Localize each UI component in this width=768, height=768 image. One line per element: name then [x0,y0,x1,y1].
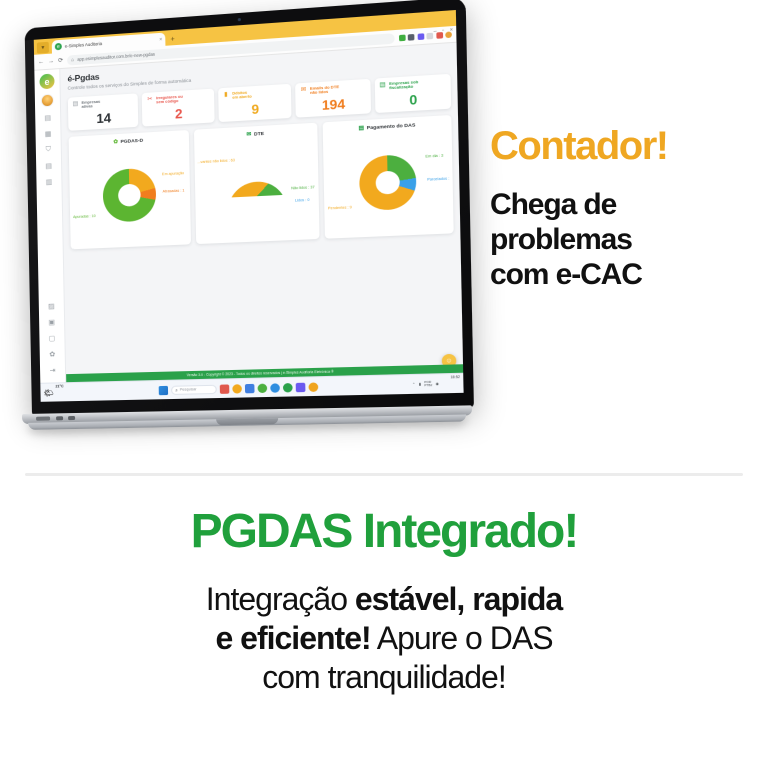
e-simples-logo-icon[interactable]: e [39,73,54,89]
forward-icon[interactable]: → [48,58,54,64]
gauge-wrap [227,181,287,213]
taskbar-app-2[interactable] [232,384,242,393]
taskbar-app-3[interactable] [245,383,255,392]
kpi-label: Emails do DTE não lidos [310,84,339,96]
file-doc-icon: ▤ [358,125,364,132]
kpi-card-empresas-ativas[interactable]: ▤ Empresas ativas 14 [68,93,139,131]
mail-icon: ✉ [246,132,251,138]
top-headline-block: Contador! Chega de problemas com e-CAC [490,126,754,292]
chart-annotation-nao-lidos: Não lidos : 37 [291,186,315,191]
bottom-body: Integração estável, rapida e eficiente! … [36,580,732,697]
chart-title: PGDAS-D [121,138,144,144]
bottom-body-line1-normal: Integração [206,581,355,617]
chart-annotation-relevantes-nao-lidos: ...vantes não lidos : 63 [197,159,235,165]
headline-main: Chega de problemas com e-CAC [490,188,754,292]
taskbar-system-tray: ⌃ ▮ POR PTB2 ◉ 18:52 18/12/2023 [365,365,460,402]
bottom-section: PGDAS Integrado! Integração estável, rap… [0,480,768,768]
close-icon[interactable]: × [159,36,162,42]
taskbar-app-6[interactable] [283,382,293,392]
chart-annotation-pendentes: Pendentes : 9 [328,207,352,212]
window-controls: – ▫ × [434,27,453,35]
app-main: é-Pgdas Controle todos os serviços do Si… [60,43,463,402]
taskbar-search-input[interactable]: ⌕ Pesquisar [171,384,217,394]
kpi-card-debitos-aberto[interactable]: ▮ Débitos em aberto 9 [218,83,292,122]
sidebar-item-camera[interactable]: ▣ [46,316,57,327]
laptop-base-notch [216,418,278,425]
top-section: ▾ e e-Simples Auditoria × + ← → ⟳ [0,0,768,474]
webcam-icon [237,18,240,21]
extension-icon-1[interactable] [398,34,405,41]
chart-annotation-em-dia: Em dia : 3 [425,155,443,160]
bottom-title: PGDAS Integrado! [36,508,732,556]
taskbar-app-7[interactable] [296,382,306,392]
sidebar-spacer [49,192,51,295]
reload-icon[interactable]: ⟳ [58,57,63,64]
chart-annotation-lidos: Lidos : 0 [295,199,310,203]
donut-pagamento-das [359,154,417,211]
minimize-icon[interactable]: – [434,28,437,35]
extension-icon-4[interactable] [426,32,433,39]
laptop-port-usbc [36,416,50,420]
sidebar-item-calendar[interactable]: ▤ [42,112,53,124]
taskbar-app-8[interactable] [308,382,318,392]
taskbar-weather-widget[interactable]: 🌤 21°C Parcialmente ensolarado [43,373,114,402]
clock-time: 18:52 [450,375,460,379]
laptop-port-3 [68,415,75,419]
donut-wrap [102,168,156,223]
chart-canvas: Em dia : 3 Parcelados : Pendentes : 9 [327,133,451,231]
extension-icon-2[interactable] [408,33,415,40]
sun-cloud-icon: 🌤 [43,388,53,397]
site-info-icon[interactable]: ⌂ [71,57,74,63]
taskbar-app-chrome[interactable] [270,383,280,393]
back-icon[interactable]: ← [38,59,44,65]
building-icon: ▤ [72,101,79,108]
chart-row: ✿ PGDAS-D Em apuração Atrasadas : 1 [69,115,454,249]
taskbar-clock[interactable]: 18:52 18/12/2023 [442,365,460,402]
donut-wrap [359,154,417,211]
chart-title-row: ✉ DTE [197,128,315,141]
laptop-screen: ▾ e e-Simples Auditoria × + ← → ⟳ [34,10,464,402]
chart-title-row: ▤ Pagamento do DAS [326,121,448,134]
chart-title-row: ✿ PGDAS-D [72,136,186,148]
chart-card-pagamento-das[interactable]: ▤ Pagamento do DAS Em dia : 3 Parcela [323,115,454,239]
headline-accent: Contador! [490,126,754,166]
tray-sound-icon[interactable]: ◉ [436,382,440,386]
e-simples-logo-icon: e [55,43,62,51]
kpi-value: 9 [222,101,288,118]
kpi-label: Débitos em aberto [232,90,252,101]
maximize-icon[interactable]: ▫ [442,28,444,34]
kpi-card-emails-dte[interactable]: ✉ Emails do DTE não lidos 194 [295,78,370,118]
file-doc-icon: ▤ [379,81,387,89]
chart-canvas: Em apuração Atrasadas : 1 Apuradas : 10 [72,148,188,243]
lock-icon: ▮ [222,91,229,99]
chart-card-dte[interactable]: ✉ DTE ...vantes não lidos : 63 Não li [194,123,320,244]
tab-search-menu-icon[interactable]: ▾ [37,42,49,54]
chart-title: DTE [254,132,264,138]
bottom-body-line2-normal: Apure o DAS [371,620,553,656]
kpi-label: Empresas sob fiscalização [389,80,418,92]
kpi-card-fiscalizacao[interactable]: ▤ Empresas sob fiscalização 0 [374,73,451,113]
gear-icon[interactable]: ✿ [47,348,58,359]
kpi-value: 14 [72,110,135,127]
sidebar-item-monitor[interactable]: ▢ [46,332,57,343]
kpi-label: Irregulares ou sem código [156,94,183,106]
laptop-port-2 [56,416,63,420]
chart-canvas: ...vantes não lidos : 63 Não lidos : 37 … [197,141,316,237]
chart-annotation-parcelados: Parcelados : [427,178,449,183]
tray-network-icon[interactable]: ▮ [419,382,421,386]
weather-temperature: 21°C [55,384,63,388]
chart-annotation-atrasadas: Atrasadas : 1 [163,190,185,195]
bottom-body-line3: com tranquilidade! [262,659,505,695]
bottom-body-bold-1: estável, rapida [355,581,562,617]
app-body: e ▤ ▦ ⛉ ▤ ▥ ▨ ▣ ▢ ✿ ⇥ [34,43,463,402]
taskbar-app-4[interactable] [258,383,268,392]
kpi-card-irregulares[interactable]: ✂ Irregulares ou sem código 2 [142,88,214,127]
kpi-label: Empresas ativas [81,99,100,110]
tray-chevron-icon[interactable]: ⌃ [412,382,415,386]
chart-annotation-em-apuracao: Em apuração [162,172,184,177]
promo-poster: ▾ e e-Simples Auditoria × + ← → ⟳ [0,0,768,768]
taskbar-app-1[interactable] [220,384,230,393]
pgdas-leaf-icon: ✿ [113,139,118,145]
window-close-icon[interactable]: × [450,27,453,34]
chart-card-pgdas-d[interactable]: ✿ PGDAS-D Em apuração Atrasadas : 1 [69,130,191,249]
browser-tab-title: e-Simples Auditoria [65,37,156,48]
taskbar-center: ⌕ Pesquisar [114,381,366,396]
tray-language-icon[interactable]: POR PTB2 [424,381,432,387]
windows-taskbar: 🌤 21°C Parcialmente ensolarado ⌕ Pesquis… [40,373,463,402]
bottom-body-bold-2: e eficiente! [215,620,370,656]
donut-pgdas-d [102,168,156,223]
new-tab-button[interactable]: + [170,36,174,43]
chart-title: Pagamento do DAS [367,123,416,131]
extension-icon-3[interactable] [417,33,424,40]
chart-annotation-apuradas: Apuradas : 10 [73,215,96,220]
sidebar-item-documents[interactable]: ▤ [43,160,54,172]
clock-date: 18/12/2023 [443,394,461,399]
taskbar-search-placeholder: Pesquisar [180,387,197,391]
sidebar-item-dashboard[interactable]: ▨ [46,300,57,311]
address-bar-url: app.esimplesauditor.com.br/e-new-pgdas [77,52,155,62]
mail-icon: ✉ [300,86,308,94]
kpi-value: 0 [379,91,448,109]
laptop-mockup: ▾ e e-Simples Auditoria × + ← → ⟳ [22,28,472,440]
kpi-value: 194 [300,96,367,114]
gauge-dte [227,181,287,213]
laptop-lid: ▾ e e-Simples Auditoria × + ← → ⟳ [25,0,474,416]
avatar[interactable] [41,94,54,108]
alert-pin-icon: ✂ [146,96,153,104]
sidebar-item-apps[interactable]: ▦ [42,128,53,140]
sidebar-item-reports[interactable]: ▥ [43,176,54,188]
section-divider [25,473,743,476]
sidebar-item-shield[interactable]: ⛉ [43,144,54,156]
windows-start-icon[interactable] [159,385,168,394]
kpi-value: 2 [147,105,212,122]
search-icon: ⌕ [175,387,178,392]
